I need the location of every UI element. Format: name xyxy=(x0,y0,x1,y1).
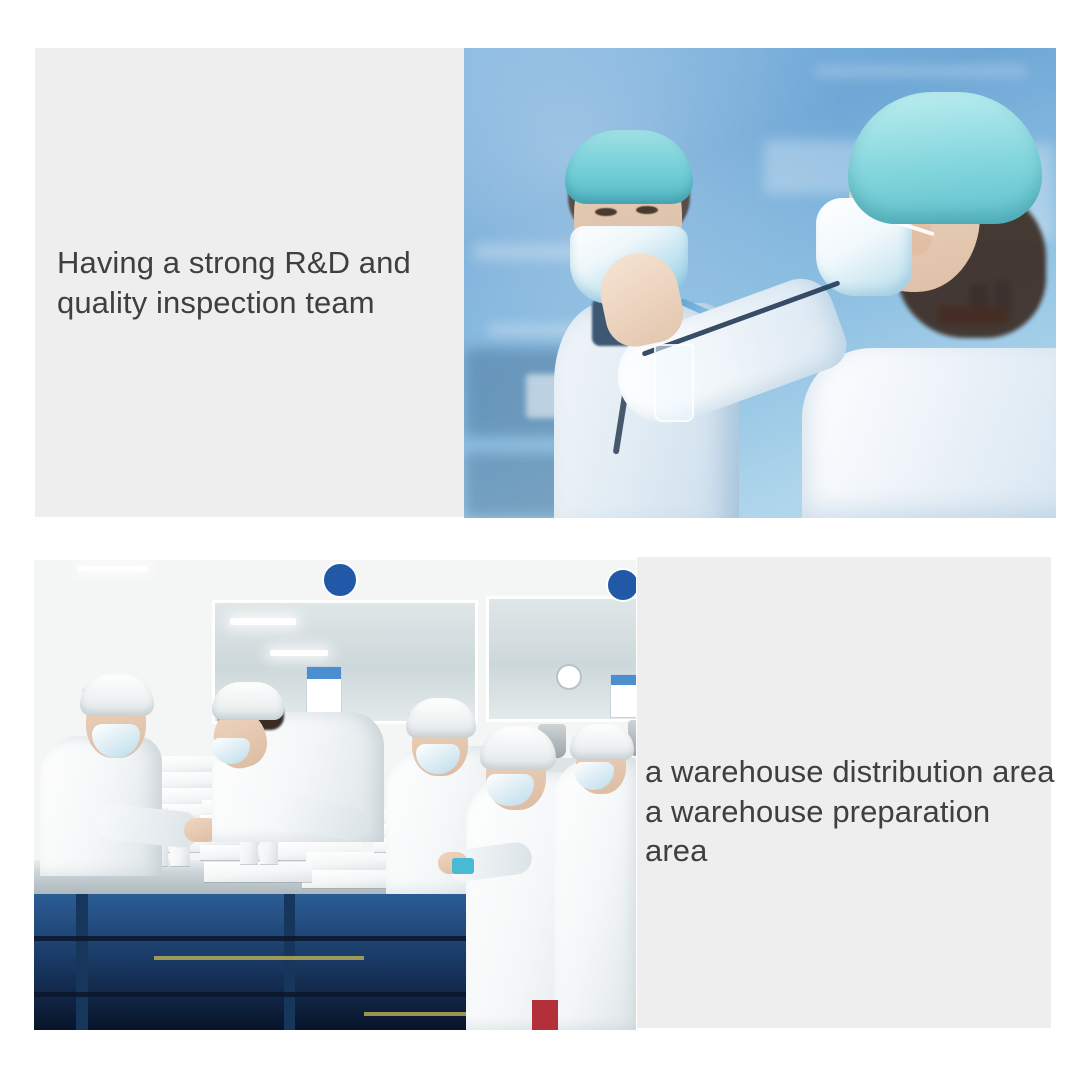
rd-quality-caption: Having a strong R&D and quality inspecti… xyxy=(57,243,457,322)
ceiling-light-c xyxy=(78,566,148,571)
wall-clock xyxy=(556,664,582,690)
table-leg-mid xyxy=(284,894,295,1030)
lab-worker-b-coat xyxy=(802,348,1056,518)
wall-poster-b xyxy=(610,674,636,718)
lab-shelf-top xyxy=(816,66,1026,76)
worker-5-coat xyxy=(554,758,636,1030)
lab-scene xyxy=(464,48,1056,518)
worker-2-hairnet xyxy=(212,682,284,720)
lab-worker-a-eye-left xyxy=(595,208,617,216)
ceiling-light-a xyxy=(230,618,296,625)
ceiling-light-b xyxy=(270,650,328,656)
teal-tool xyxy=(452,858,474,874)
warehouse-packing-photo xyxy=(34,560,636,1030)
blue-circular-sign-a xyxy=(322,562,358,598)
warehouse-scene xyxy=(34,560,636,1030)
worker-red-trouser xyxy=(532,1000,558,1030)
warehouse-area-caption: a warehouse distribution area a warehous… xyxy=(645,752,1055,871)
poster-header-a xyxy=(307,667,341,679)
lab-worker-a-eye-right xyxy=(636,206,658,214)
worker-5-hairnet xyxy=(570,724,634,760)
floor-marking-tape-a xyxy=(154,956,364,960)
worker-1-coat xyxy=(40,736,162,876)
poster-header-b xyxy=(611,675,636,685)
lab-worker-a-hairnet xyxy=(565,130,693,204)
table-leg-left xyxy=(76,894,88,1030)
wall-poster-a xyxy=(306,666,342,718)
worker-1-hairnet xyxy=(80,674,154,716)
blue-circular-sign-b xyxy=(606,568,636,602)
box-foreground-a xyxy=(204,862,312,882)
worker-3-hairnet xyxy=(406,698,476,738)
rd-quality-inspection-photo xyxy=(464,48,1056,518)
lab-vial xyxy=(654,344,694,422)
lab-worker-b-hairnet xyxy=(848,92,1042,224)
